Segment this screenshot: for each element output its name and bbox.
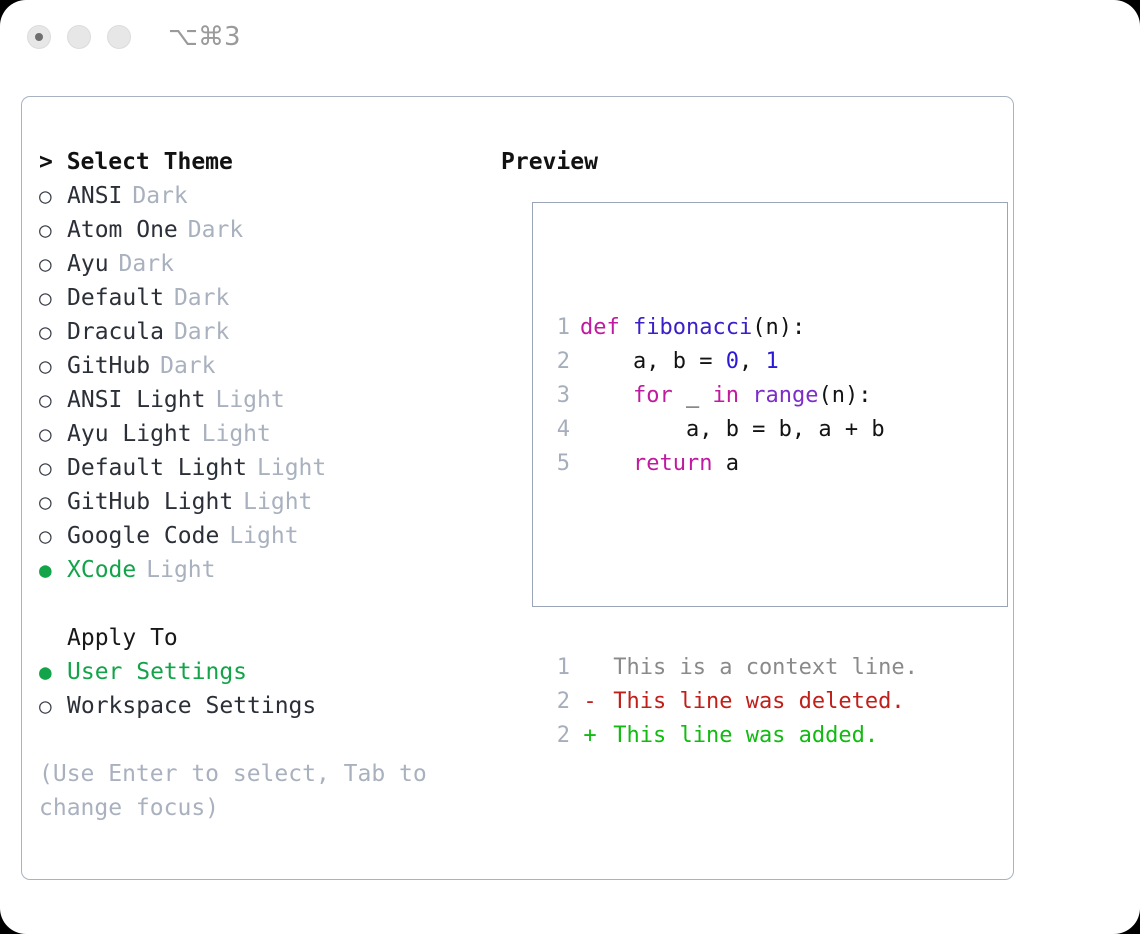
code-token: a, b = b, a + b [580, 417, 885, 442]
code-token [739, 383, 752, 408]
theme-variant-tag: Dark [150, 349, 215, 383]
apply-to-option[interactable]: ○Workspace Settings [39, 689, 479, 723]
window-controls [27, 25, 131, 49]
diff-line: 2- This line was deleted. [533, 685, 1007, 719]
theme-option-label: GitHub Light [67, 485, 233, 519]
apply-to-option-label: User Settings [67, 655, 247, 689]
code-line: 1def fibonacci(n): [533, 311, 1007, 345]
theme-option[interactable]: ○DefaultDark [39, 281, 479, 315]
radio-unselected-icon: ○ [39, 349, 67, 383]
preview-column: Preview 1def fibonacci(n):2 a, b = 0, 13… [501, 145, 1001, 179]
radio-unselected-icon: ○ [39, 383, 67, 417]
hint-line-1: (Use Enter to select, Tab to [39, 757, 479, 791]
line-number: 4 [533, 413, 580, 447]
code-token: for [633, 383, 673, 408]
diff-sample: 1 This is a context line.2- This line wa… [533, 651, 1007, 753]
code-line: 2 a, b = 0, 1 [533, 345, 1007, 379]
theme-option-label: Dracula [67, 315, 164, 349]
theme-variant-tag: Light [136, 553, 215, 587]
code-text: a, b = 0, 1 [580, 345, 779, 379]
code-token: fibonacci [633, 315, 752, 340]
code-token: range [752, 383, 818, 408]
radio-selected-icon: ● [39, 553, 67, 587]
code-token: (n): [752, 315, 805, 340]
apply-to-option-label: Workspace Settings [67, 689, 316, 723]
line-number: 2 [533, 685, 580, 719]
code-line: 3 for _ in range(n): [533, 379, 1007, 413]
theme-option[interactable]: ○DraculaDark [39, 315, 479, 349]
hint-line-2: change focus) [39, 791, 479, 825]
code-token: , [739, 349, 766, 374]
theme-option-label: GitHub [67, 349, 150, 383]
radio-unselected-icon: ○ [39, 247, 67, 281]
window-dot-active[interactable] [27, 25, 51, 49]
code-line: 4 a, b = b, a + b [533, 413, 1007, 447]
diff-text: This line was added. [600, 719, 878, 753]
keyboard-shortcut-label: ⌥⌘3 [168, 22, 241, 52]
code-text: def fibonacci(n): [580, 311, 805, 345]
window-dot-2[interactable] [67, 25, 91, 49]
radio-unselected-icon: ○ [39, 689, 67, 723]
code-token: a, b = [580, 349, 726, 374]
theme-variant-tag: Light [219, 519, 298, 553]
theme-variant-tag: Light [205, 383, 284, 417]
terminal-window: ⌥⌘3 > Select Theme ○ANSIDark○Atom OneDar… [0, 0, 1140, 934]
preview-heading: Preview [501, 145, 1001, 179]
diff-line: 1 This is a context line. [533, 651, 1007, 685]
hint-spacer [39, 723, 479, 757]
radio-unselected-icon: ○ [39, 213, 67, 247]
code-token: (n): [818, 383, 871, 408]
theme-picker-panel: > Select Theme ○ANSIDark○Atom OneDark○Ay… [21, 96, 1014, 880]
apply-to-list: ●User Settings○Workspace Settings [39, 655, 479, 723]
theme-option-label: Ayu Light [67, 417, 192, 451]
code-token: a [712, 451, 739, 476]
theme-option[interactable]: ○Google CodeLight [39, 519, 479, 553]
code-token [580, 383, 633, 408]
theme-option[interactable]: ○ANSI LightLight [39, 383, 479, 417]
theme-option[interactable]: ○ANSIDark [39, 179, 479, 213]
list-spacer [39, 587, 479, 621]
window-dot-inner [35, 33, 43, 41]
apply-to-option[interactable]: ●User Settings [39, 655, 479, 689]
code-token [580, 451, 633, 476]
diff-text: This is a context line. [600, 651, 918, 685]
code-line: 5 return a [533, 447, 1007, 481]
theme-variant-tag: Dark [164, 281, 229, 315]
line-number: 5 [533, 447, 580, 481]
theme-option[interactable]: ○GitHub LightLight [39, 485, 479, 519]
theme-variant-tag: Light [233, 485, 312, 519]
line-number: 1 [533, 311, 580, 345]
diff-text: This line was deleted. [600, 685, 905, 719]
diff-marker: + [580, 719, 600, 753]
theme-list: ○ANSIDark○Atom OneDark○AyuDark○DefaultDa… [39, 179, 479, 587]
theme-option[interactable]: ●XCodeLight [39, 553, 479, 587]
code-text: for _ in range(n): [580, 379, 871, 413]
code-token: def [580, 315, 620, 340]
theme-option[interactable]: ○AyuDark [39, 247, 479, 281]
theme-option[interactable]: ○Atom OneDark [39, 213, 479, 247]
radio-unselected-icon: ○ [39, 179, 67, 213]
theme-variant-tag: Dark [178, 213, 243, 247]
theme-variant-tag: Dark [164, 315, 229, 349]
diff-marker [580, 651, 600, 685]
radio-unselected-icon: ○ [39, 281, 67, 315]
theme-option-label: Default [67, 281, 164, 315]
window-dot-3[interactable] [107, 25, 131, 49]
code-diff-gap [533, 549, 1007, 583]
radio-selected-icon: ● [39, 655, 67, 689]
title-bar: ⌥⌘3 [0, 0, 1140, 78]
theme-variant-tag: Dark [109, 247, 174, 281]
theme-option[interactable]: ○Ayu LightLight [39, 417, 479, 451]
line-number: 1 [533, 651, 580, 685]
radio-unselected-icon: ○ [39, 417, 67, 451]
theme-option-label: Ayu [67, 247, 109, 281]
theme-list-column: > Select Theme ○ANSIDark○Atom OneDark○Ay… [39, 145, 479, 825]
code-text: a, b = b, a + b [580, 413, 885, 447]
diff-line: 2+ This line was added. [533, 719, 1007, 753]
code-token: 1 [765, 349, 778, 374]
select-theme-heading: > Select Theme [39, 145, 479, 179]
code-text: return a [580, 447, 739, 481]
diff-marker: - [580, 685, 600, 719]
code-sample: 1def fibonacci(n):2 a, b = 0, 13 for _ i… [533, 311, 1007, 481]
theme-option-label: ANSI Light [67, 383, 205, 417]
line-number: 2 [533, 345, 580, 379]
theme-option-label: Google Code [67, 519, 219, 553]
radio-unselected-icon: ○ [39, 519, 67, 553]
line-number: 3 [533, 379, 580, 413]
code-token: return [633, 451, 712, 476]
line-number: 2 [533, 719, 580, 753]
theme-variant-tag: Light [192, 417, 271, 451]
code-token: _ [673, 383, 713, 408]
code-token: in [712, 383, 739, 408]
radio-unselected-icon: ○ [39, 485, 67, 519]
theme-option-label: Atom One [67, 213, 178, 247]
radio-unselected-icon: ○ [39, 451, 67, 485]
code-preview: 1def fibonacci(n):2 a, b = 0, 13 for _ i… [533, 243, 1007, 821]
radio-unselected-icon: ○ [39, 315, 67, 349]
theme-option-label: Default Light [67, 451, 247, 485]
preview-box: 1def fibonacci(n):2 a, b = 0, 13 for _ i… [532, 202, 1008, 607]
code-token [620, 315, 633, 340]
theme-option[interactable]: ○GitHubDark [39, 349, 479, 383]
theme-variant-tag: Light [247, 451, 326, 485]
theme-option-label: ANSI [67, 179, 122, 213]
apply-to-heading: Apply To [39, 621, 479, 655]
code-token: 0 [726, 349, 739, 374]
theme-option-label: XCode [67, 553, 136, 587]
theme-variant-tag: Dark [122, 179, 187, 213]
theme-option[interactable]: ○Default LightLight [39, 451, 479, 485]
